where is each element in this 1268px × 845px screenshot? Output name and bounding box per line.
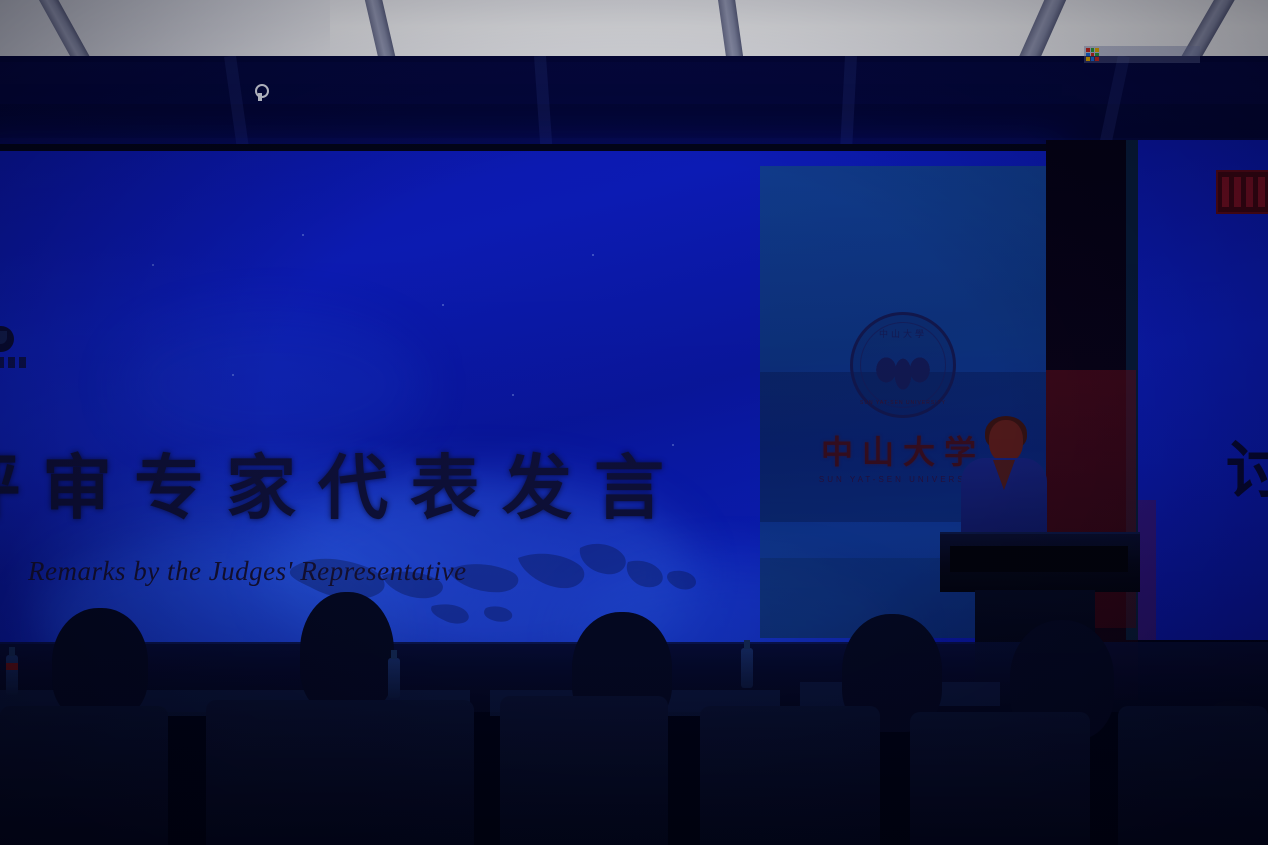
- university-seal-icon: 中山大學 SUN YAT-SEN UNIVERSITY: [850, 312, 956, 418]
- podium-front-face: [950, 546, 1128, 572]
- watermark-text: [1102, 51, 1140, 59]
- side-display-banner-glyphs: [1222, 177, 1268, 207]
- speaker-figure: [955, 420, 1047, 540]
- side-display: 讨: [1138, 140, 1268, 640]
- audience-chair: [1118, 706, 1268, 845]
- side-display-partial-character: 讨: [1226, 420, 1268, 510]
- screen-star: [152, 264, 154, 266]
- ceiling-beam: [360, 0, 401, 58]
- seal-emblem: [875, 351, 931, 393]
- screen-star: [302, 234, 304, 236]
- water-bottle: [388, 658, 400, 698]
- audience-chair: [910, 712, 1090, 845]
- event-logo-wordmark: [0, 357, 30, 368]
- screen-title-english: Remarks by the Judges' Representative: [28, 556, 467, 587]
- water-bottle: [741, 648, 753, 688]
- seal-top-text: 中山大學: [879, 327, 927, 340]
- audience-chair: [206, 700, 474, 845]
- screen-star: [232, 374, 234, 376]
- audience-head: [52, 608, 148, 720]
- event-logo-mark: [0, 326, 14, 352]
- screenshot-root: 评审专家代表发言 Remarks by the Judges' Represen…: [0, 0, 1268, 845]
- app-grid-icon: [1086, 48, 1099, 61]
- hall-ceiling: [0, 0, 1268, 58]
- screen-top-edge: [0, 144, 1062, 151]
- watermark-overlay: [1084, 46, 1200, 63]
- cursor-stem: [258, 93, 262, 101]
- audience-chair: [500, 696, 668, 845]
- speaker-head: [989, 420, 1023, 462]
- ceiling-shadow-band: [0, 62, 1268, 104]
- screen-star: [442, 304, 444, 306]
- audience-chair: [700, 706, 880, 845]
- audience-head: [300, 592, 394, 714]
- water-bottle: [6, 655, 18, 695]
- side-display-banner: [1216, 170, 1268, 214]
- ceiling-beam: [1011, 0, 1074, 58]
- ceiling-shadow-band: [0, 104, 1268, 138]
- event-logo: [0, 326, 50, 376]
- audience-chair: [0, 706, 168, 845]
- screen-star: [512, 394, 514, 396]
- ceiling-beam: [715, 0, 747, 58]
- side-display-red-column: [1138, 500, 1156, 640]
- screen-title-chinese: 评审专家代表发言: [0, 432, 686, 533]
- seal-bottom-text: SUN YAT-SEN UNIVERSITY: [860, 400, 946, 406]
- screen-star: [592, 254, 594, 256]
- busy-cursor: [253, 84, 267, 102]
